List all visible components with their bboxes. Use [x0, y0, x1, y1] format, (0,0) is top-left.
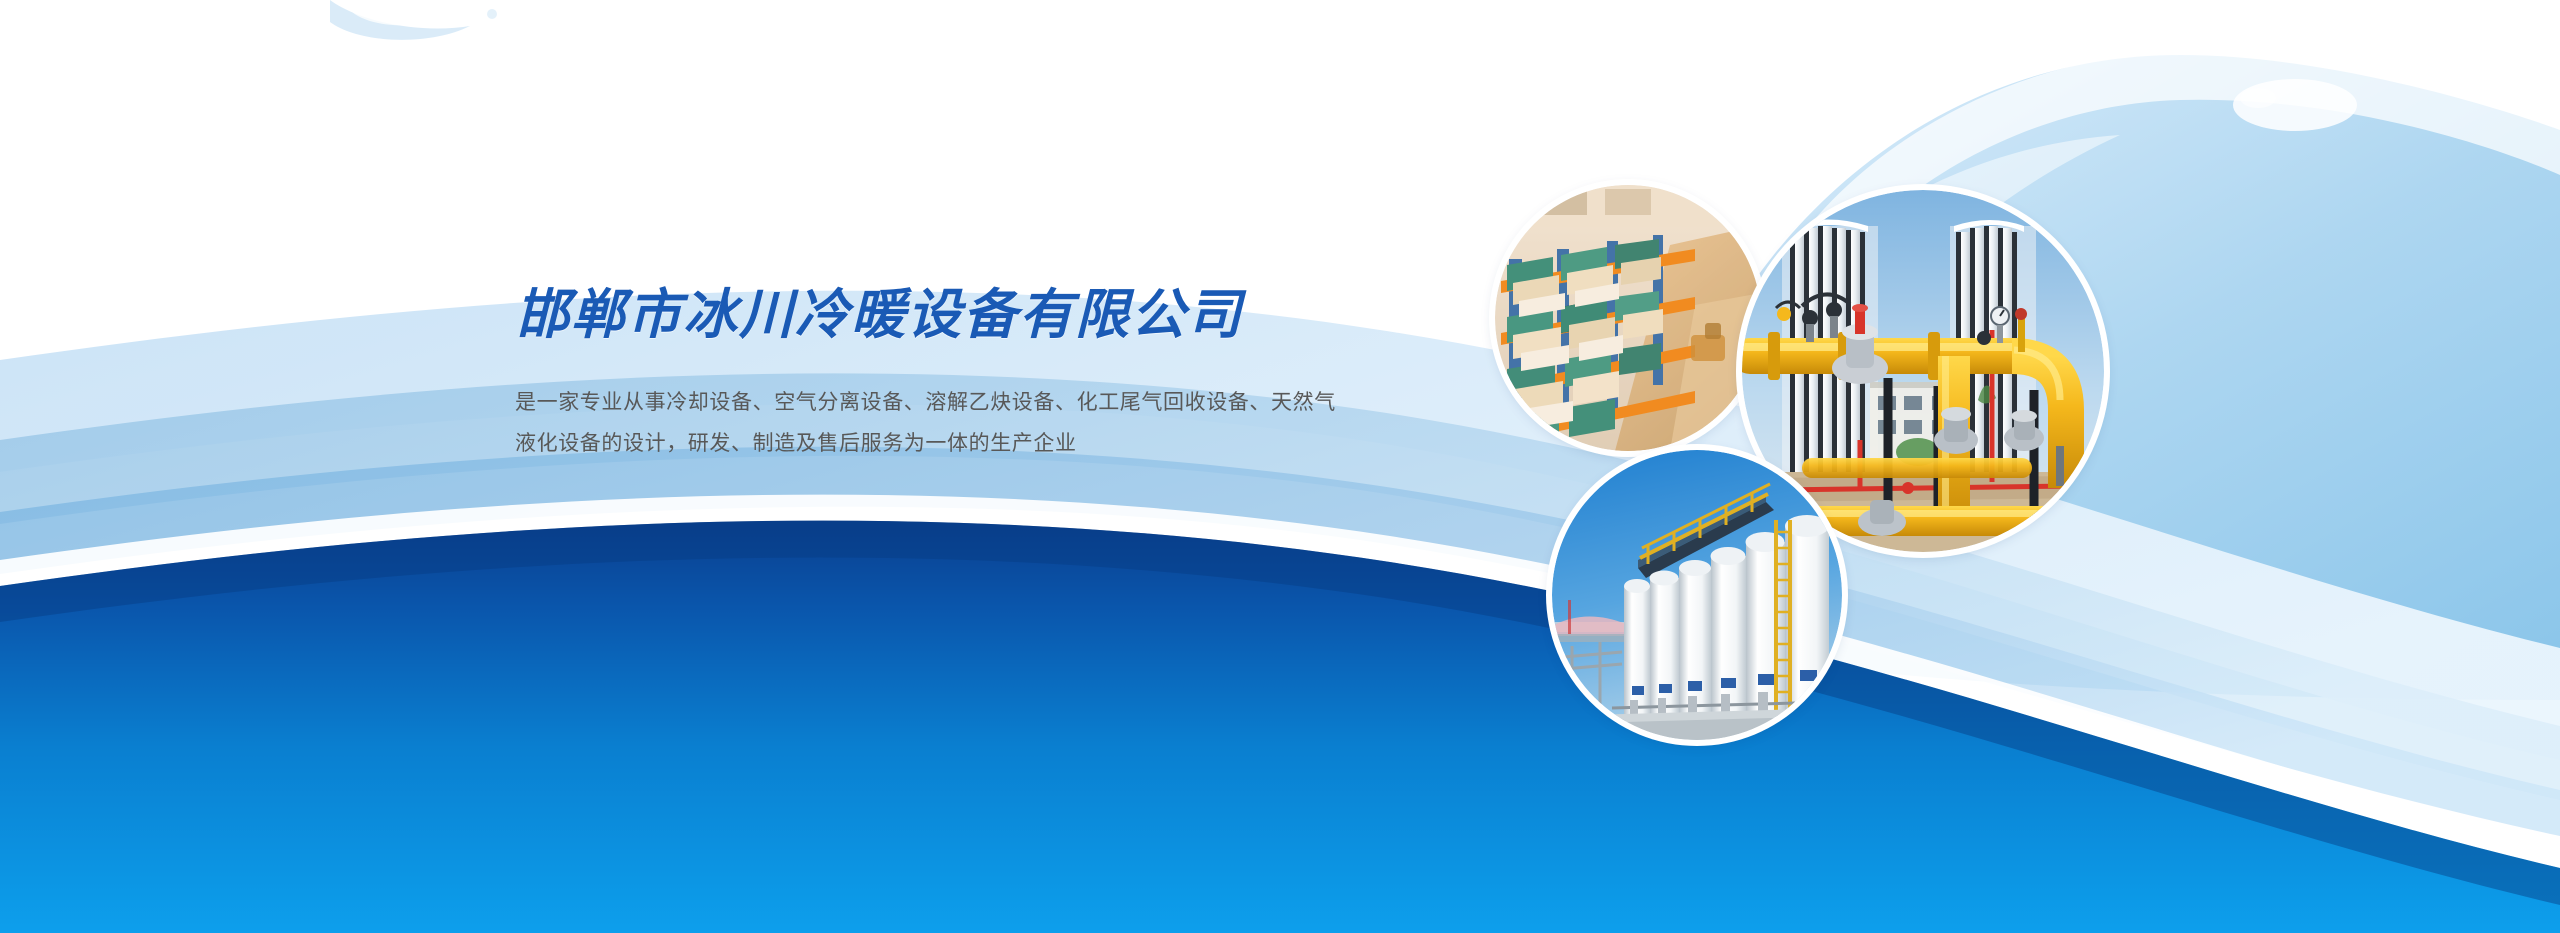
photo-circle-tanks — [1552, 450, 1842, 740]
headline-text-block: 邯郸市冰川冷暖设备有限公司 是一家专业从事冷却设备、空气分离设备、溶解乙炔设备、… — [515, 285, 1515, 465]
subtitle-line-2: 液化设备的设计，研发、制造及售后服务为一体的生产企业 — [515, 424, 1515, 465]
photo-circle-warehouse — [1495, 185, 1761, 451]
page-title: 邯郸市冰川冷暖设备有限公司 — [515, 285, 1515, 345]
subtitle-line-1: 是一家专业从事冷却设备、空气分离设备、溶解乙炔设备、化工尾气回收设备、天然气 — [515, 383, 1515, 424]
background-artwork — [0, 0, 2560, 933]
tanks-image — [1552, 450, 1842, 740]
company-banner: 邯郸市冰川冷暖设备有限公司 是一家专业从事冷却设备、空气分离设备、溶解乙炔设备、… — [0, 0, 2560, 933]
warehouse-image — [1495, 185, 1761, 451]
